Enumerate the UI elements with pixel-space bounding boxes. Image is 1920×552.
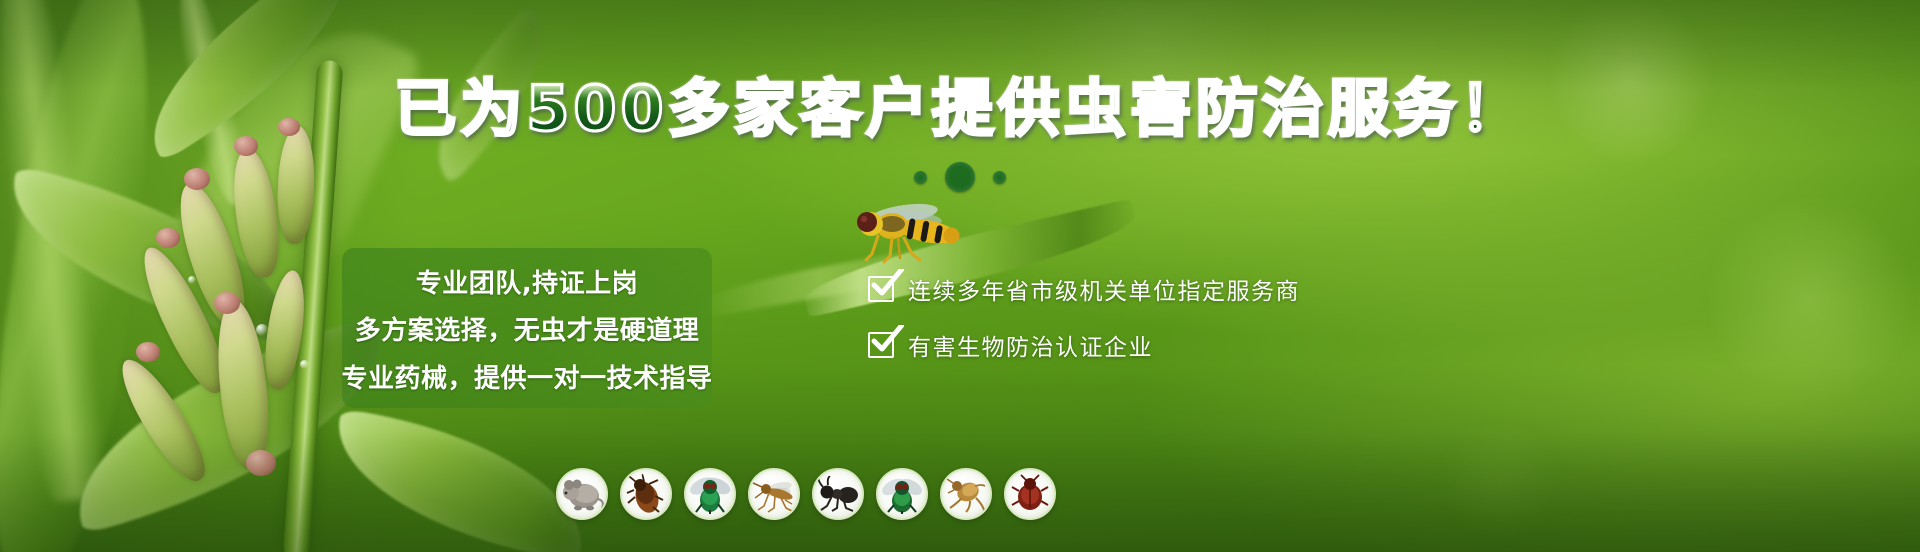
slogan-line-1: 专业团队,持证上岗 — [416, 263, 638, 300]
dew-drop — [300, 360, 309, 369]
slogan-text-group: 专业团队,持证上岗 多方案选择，无虫才是硬道理 专业药械，提供一对一技术指导 — [342, 252, 712, 404]
dew-drop — [188, 276, 196, 284]
pest-icon-row — [556, 468, 1056, 520]
greenbottle-fly-icon[interactable] — [684, 468, 736, 520]
mosquito-icon[interactable] — [748, 468, 800, 520]
checklist-item: 连续多年省市级机关单位指定服务商 — [868, 272, 1300, 306]
divider-dots — [0, 162, 1920, 192]
banner-headline: 已为500多家客户提供虫害防治服务！ — [0, 76, 1920, 142]
checklist-item-label: 连续多年省市级机关单位指定服务商 — [908, 272, 1300, 306]
dew-drop — [256, 324, 268, 336]
divider-dot-small — [914, 171, 927, 184]
slogan-line-2: 多方案选择，无虫才是硬道理 — [355, 310, 700, 347]
ant-icon[interactable] — [812, 468, 864, 520]
slogan-line-3: 专业药械，提供一对一技术指导 — [342, 358, 713, 395]
housefly-icon[interactable] — [876, 468, 928, 520]
checklist-item: 有害生物防治认证企业 — [868, 328, 1300, 362]
mouse-icon[interactable] — [556, 468, 608, 520]
divider-dot-small — [993, 171, 1006, 184]
divider-dot-large — [945, 162, 975, 192]
checklist-item-label: 有害生物防治认证企业 — [908, 328, 1153, 362]
headline-text: 已为500多家客户提供虫害防治服务！ — [394, 76, 1525, 142]
pest-control-banner: 已为500多家客户提供虫害防治服务！ 专业团队,持证上岗 多方案选择，无虫才是硬… — [0, 0, 1920, 552]
checkbox-checked-icon — [868, 332, 894, 358]
checkbox-checked-icon — [868, 276, 894, 302]
cockroach-icon[interactable] — [620, 468, 672, 520]
bedbug-icon[interactable] — [1004, 468, 1056, 520]
credentials-checklist: 连续多年省市级机关单位指定服务商 有害生物防治认证企业 — [868, 272, 1300, 362]
hoverfly-icon — [842, 196, 972, 266]
flea-icon[interactable] — [940, 468, 992, 520]
